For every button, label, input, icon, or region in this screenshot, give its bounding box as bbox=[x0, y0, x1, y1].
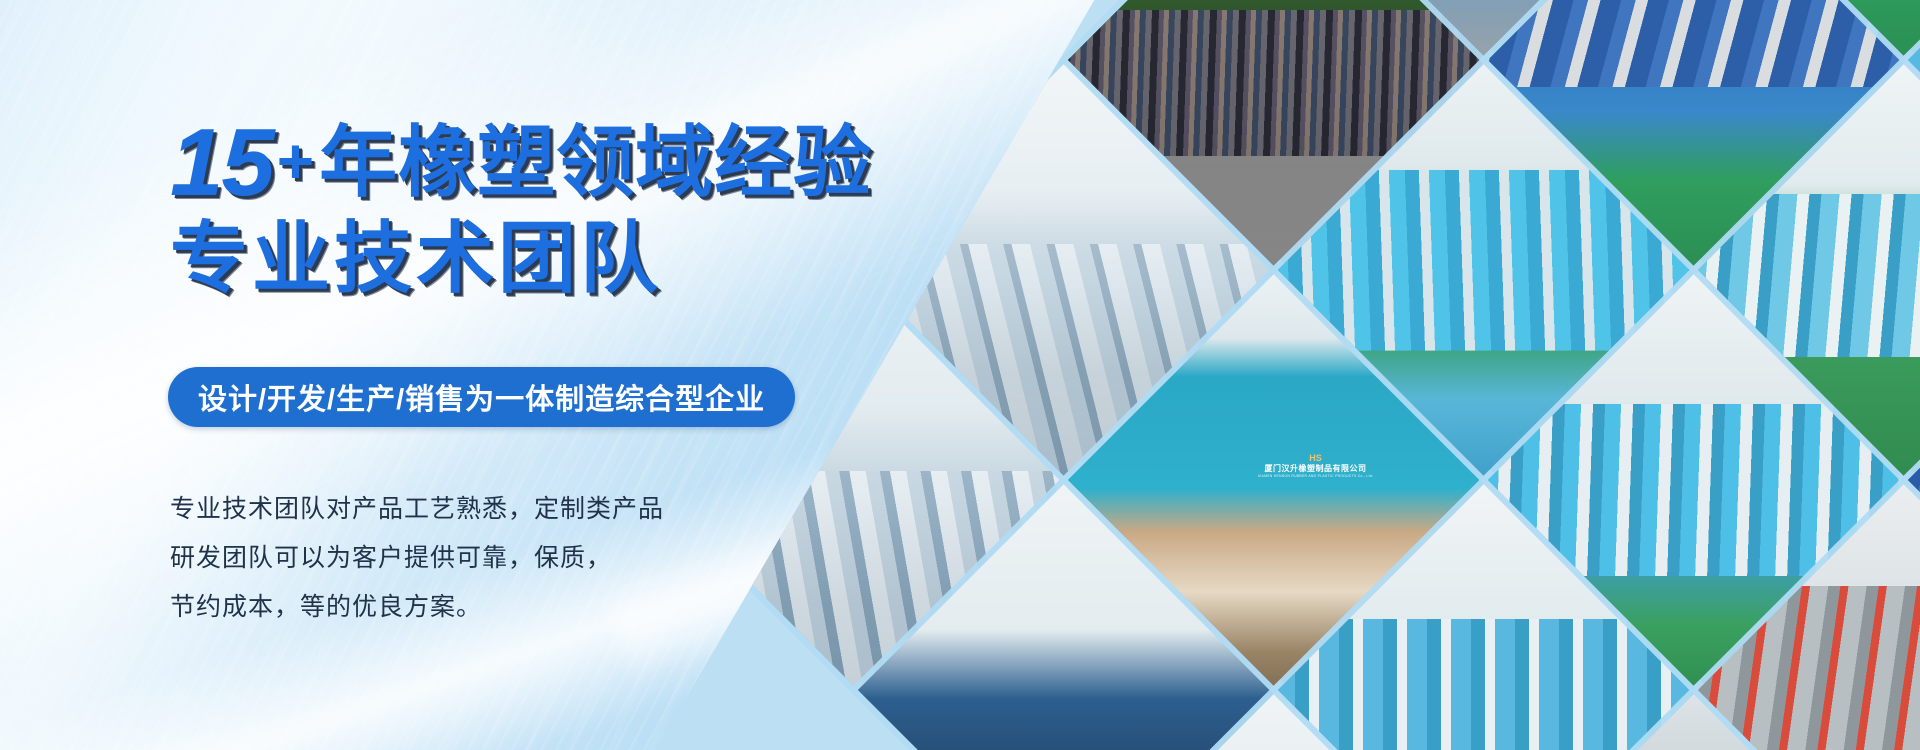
plus-sign: + bbox=[277, 125, 315, 197]
description-paragraph: 专业技术团队对产品工艺熟悉，定制类产品 研发团队可以为客户提供可靠，保质， 节约… bbox=[170, 485, 664, 632]
description-line-1: 专业技术团队对产品工艺熟悉，定制类产品 bbox=[170, 485, 664, 534]
description-line-3: 节约成本，等的优良方案。 bbox=[170, 583, 664, 632]
promotional-banner: HS 厦门汉升橡塑制品有限公司 XIAMEN HENSON RUBBER AND… bbox=[0, 0, 1920, 750]
banner-text-block: 15+年橡塑领域经验 专业技术团队 设计/开发/生产/销售为一体制造综合型企业 … bbox=[0, 0, 900, 750]
headline-line-2: 专业技术团队 bbox=[170, 196, 662, 308]
headline-line-1-text: 年橡塑领域经验 bbox=[319, 118, 872, 206]
description-line-2: 研发团队可以为客户提供可靠，保质， bbox=[170, 534, 664, 583]
tagline-text: 设计/开发/生产/销售为一体制造综合型企业 bbox=[198, 376, 765, 418]
tagline-pill: 设计/开发/生产/销售为一体制造综合型企业 bbox=[168, 367, 795, 427]
